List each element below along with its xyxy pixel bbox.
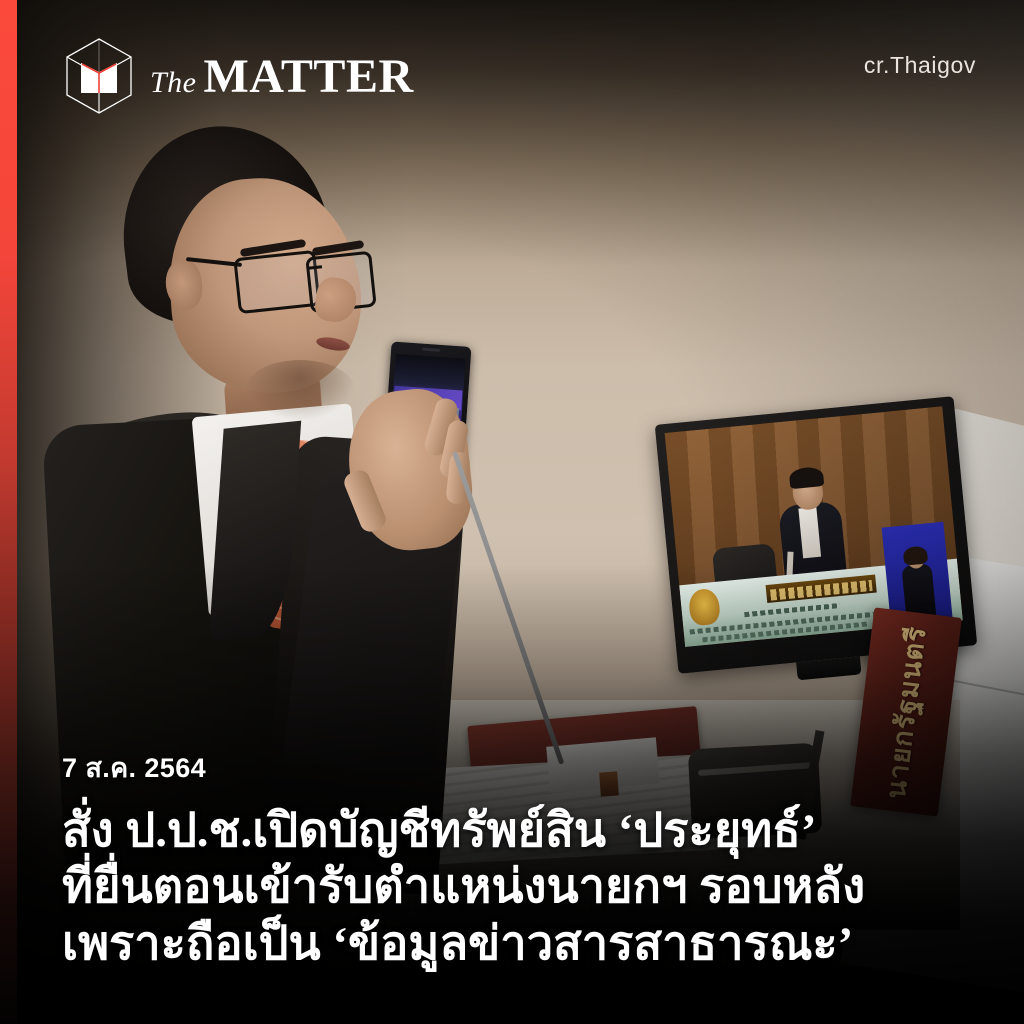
headline-line-2: ที่ยื่นตอนเข้ารับตำแหน่งนายกฯ รอบหลัง <box>62 859 964 915</box>
publish-date: 7 ส.ค. 2564 <box>62 746 964 789</box>
headline-line-3: เพราะถือเป็น ‘ข้อมูลข่าวสารสาธารณะ’ <box>62 916 964 972</box>
left-accent-stripe <box>0 0 17 1024</box>
headline-line-1: สั่ง ป.ป.ช.เปิดบัญชีทรัพย์สิน ‘ประยุทธ์’ <box>62 803 964 859</box>
social-media-news-card: นายกรัฐมนตรี <box>0 0 1024 1024</box>
caption-block: 7 ส.ค. 2564 สั่ง ป.ป.ช.เปิดบัญชีทรัพย์สิ… <box>62 746 964 972</box>
brand-logo[interactable]: The MATTER <box>62 36 414 116</box>
brand-the-label: The <box>150 66 197 100</box>
photo-credit: cr.Thaigov <box>864 52 976 79</box>
matter-cube-book-icon <box>62 36 136 116</box>
headline: สั่ง ป.ป.ช.เปิดบัญชีทรัพย์สิน ‘ประยุทธ์’… <box>62 803 964 972</box>
brand-matter-label: MATTER <box>204 49 414 104</box>
brand-wordmark: The MATTER <box>150 49 414 104</box>
